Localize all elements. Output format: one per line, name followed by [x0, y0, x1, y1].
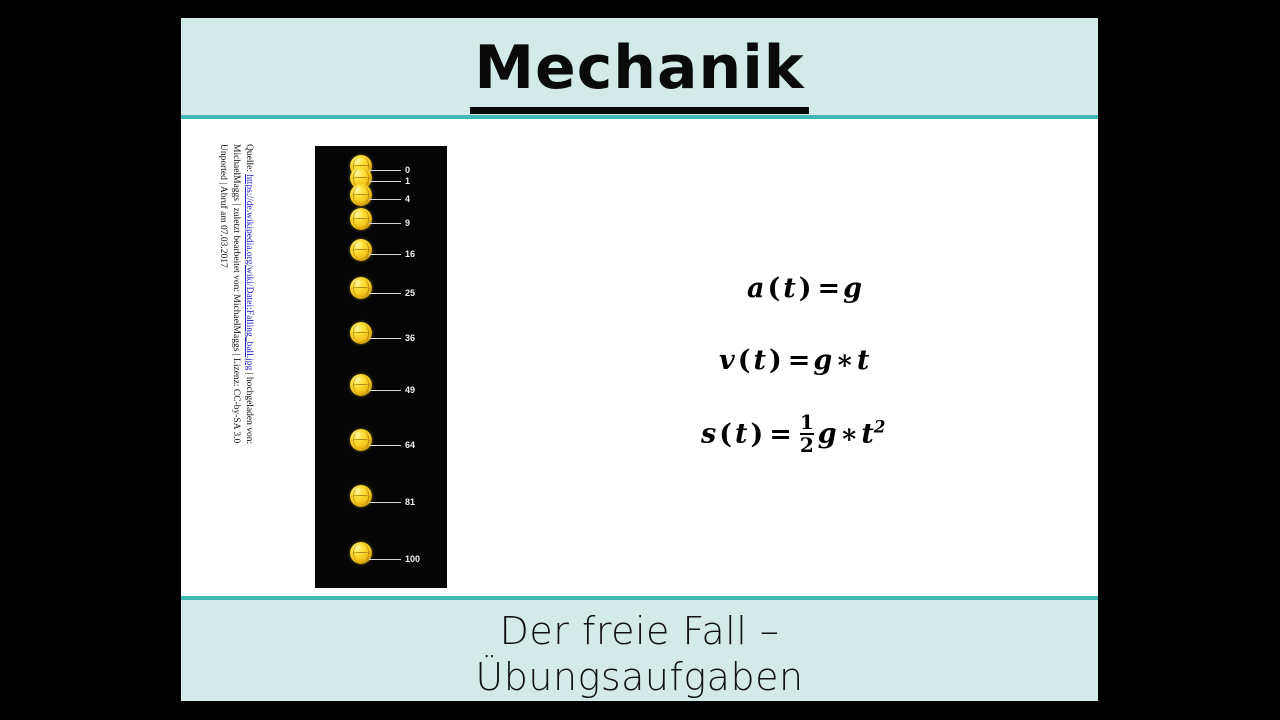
formula-acceleration-arg: t [783, 273, 795, 304]
tick-line-9 [369, 502, 401, 503]
tick-label-1: 1 [405, 177, 410, 186]
tick-line-6 [369, 338, 401, 339]
tick-label-8: 64 [405, 441, 415, 450]
formula-distance: s(t)=12g∗t2 [701, 413, 885, 457]
formula-distance-arg: t [735, 419, 747, 450]
tick-label-5: 25 [405, 289, 415, 298]
slide-footer-band: Der freie Fall – Übungsaufgaben [181, 596, 1098, 701]
tick-label-0: 0 [405, 166, 410, 175]
tick-label-7: 49 [405, 386, 415, 395]
tick-label-9: 81 [405, 498, 415, 507]
tick-line-3 [369, 223, 401, 224]
source-credit-line-2: MichaelMaggs | zuletzt bearbeitet von: M… [229, 144, 242, 586]
tick-line-2 [369, 199, 401, 200]
tick-line-7 [369, 390, 401, 391]
falling-ball-9 [350, 485, 372, 507]
slide-header-band: Mechanik [181, 18, 1098, 119]
tick-line-10 [369, 559, 401, 560]
source-credit: Quelle: https://de.wikipedia.org/wiki/Da… [195, 144, 255, 586]
formula-distance-numerator: 1 [800, 412, 814, 433]
falling-ball-5 [350, 277, 372, 299]
formula-acceleration-fn: a [747, 273, 765, 304]
formula-velocity-fn: v [719, 345, 735, 376]
slide-subtitle-line-2: Übungsaufgaben [181, 654, 1098, 700]
falling-ball-7 [350, 374, 372, 396]
tick-line-4 [369, 254, 401, 255]
formula-velocity-arg: t [753, 345, 765, 376]
formula-distance-fraction: 12 [800, 412, 814, 456]
formula-acceleration-rhs: g [843, 273, 862, 304]
presentation-slide: Mechanik Quelle: https://de.wikipedia.or… [181, 18, 1098, 701]
formula-distance-denominator: 2 [800, 433, 814, 456]
tick-label-4: 16 [405, 250, 415, 259]
page-title-text: Mechanik [470, 31, 808, 114]
falling-ball-10 [350, 542, 372, 564]
source-credit-line-1: Quelle: https://de.wikipedia.org/wiki/Da… [242, 144, 255, 586]
tick-line-8 [369, 445, 401, 446]
source-credit-line-3: Unported | Abruf am 07.03.2017 [215, 144, 228, 586]
source-credit-link[interactable]: https://de.wikipedia.org/wiki/Datei:Fall… [244, 174, 254, 370]
slide-subtitle-line-1: Der freie Fall – [181, 608, 1098, 654]
formula-distance-operator: ∗ [837, 419, 862, 450]
falling-ball-8 [350, 429, 372, 451]
tick-line-5 [369, 293, 401, 294]
screen-canvas: Mechanik Quelle: https://de.wikipedia.or… [0, 0, 1280, 720]
tick-line-1 [369, 181, 401, 182]
source-credit-prefix: Quelle: [244, 144, 254, 174]
formula-distance-factor-2: t [861, 419, 873, 450]
page-title: Mechanik [181, 31, 1098, 114]
formula-velocity-factor-1: g [813, 345, 832, 376]
source-credit-suffix: | hochgeladen von: [244, 370, 254, 444]
slide-subtitle: Der freie Fall – Übungsaufgaben [181, 608, 1098, 700]
formula-velocity-factor-2: t [857, 345, 869, 376]
formula-distance-factor-1: g [818, 419, 837, 450]
tick-label-3: 9 [405, 219, 410, 228]
falling-ball-6 [350, 322, 372, 344]
formula-acceleration: a(t)=g [747, 273, 862, 304]
tick-label-2: 4 [405, 195, 410, 204]
falling-ball-2 [350, 184, 372, 206]
falling-ball-4 [350, 239, 372, 261]
falling-ball-figure: 0 1 4 9 16 25 36 49 64 81 100 [315, 146, 447, 588]
falling-ball-3 [350, 208, 372, 230]
formula-distance-exponent: 2 [874, 417, 886, 437]
formula-velocity: v(t)=g∗t [719, 345, 869, 376]
formula-velocity-operator: ∗ [832, 345, 857, 376]
tick-label-6: 36 [405, 334, 415, 343]
tick-line-0 [369, 170, 401, 171]
formula-distance-fn: s [701, 419, 716, 450]
tick-label-10: 100 [405, 555, 420, 564]
